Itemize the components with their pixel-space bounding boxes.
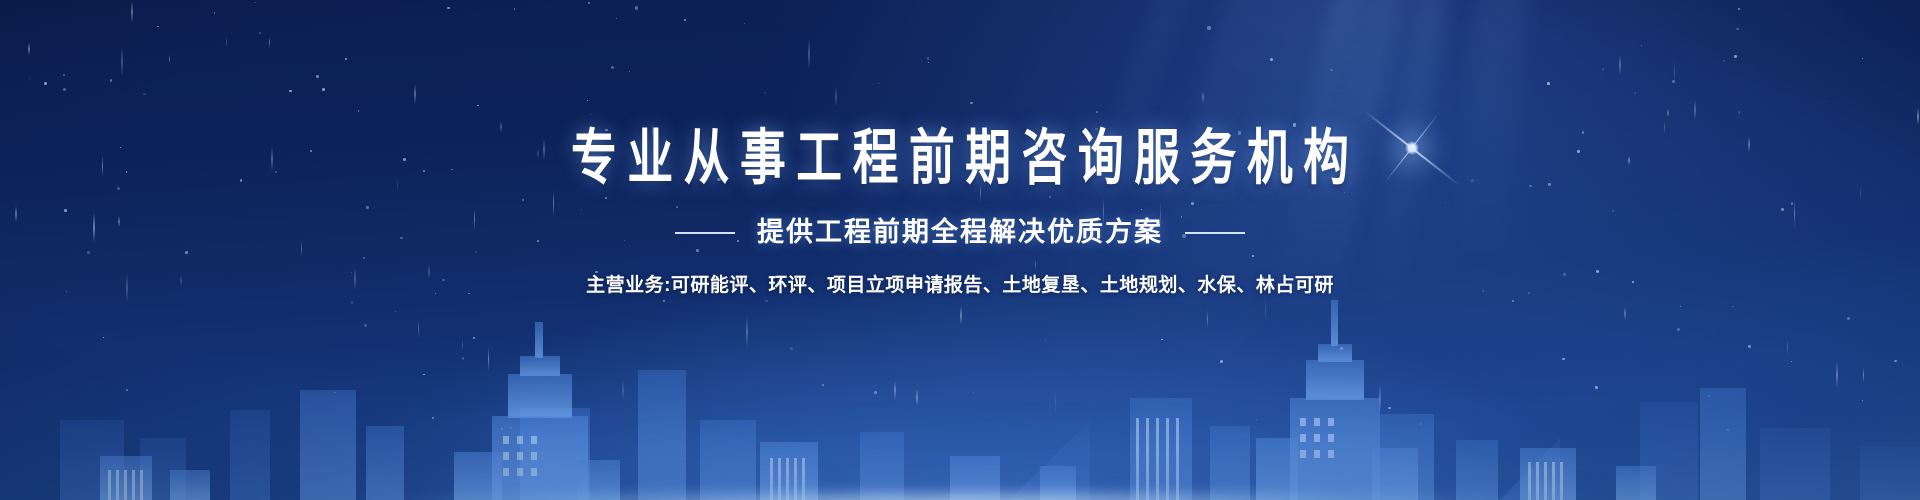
right-dash-decoration <box>1185 232 1245 234</box>
left-dash-decoration <box>675 232 735 234</box>
business-scope-line: 主营业务:可研能评、环评、项目立项申请报告、土地复垦、土地规划、水保、林占可研 <box>0 276 1920 295</box>
hero-banner: 专业从事工程前期咨询服务机构 提供工程前期全程解决优质方案 主营业务:可研能评、… <box>0 0 1920 500</box>
main-title: 专业从事工程前期咨询服务机构 <box>115 129 1805 189</box>
subtitle-row: 提供工程前期全程解决优质方案 <box>0 219 1920 246</box>
sub-title: 提供工程前期全程解决优质方案 <box>757 219 1163 246</box>
city-skyline <box>0 270 1920 500</box>
banner-content: 专业从事工程前期咨询服务机构 提供工程前期全程解决优质方案 主营业务:可研能评、… <box>0 0 1920 295</box>
